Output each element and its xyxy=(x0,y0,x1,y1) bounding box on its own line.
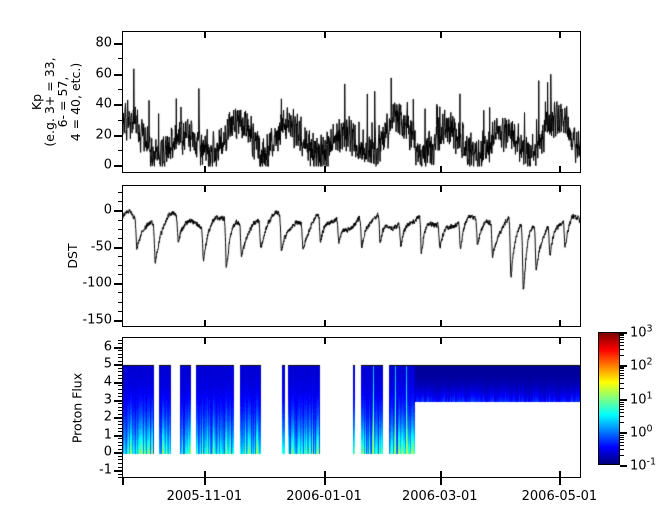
axis-tick xyxy=(440,185,442,192)
colorbar-tick-label: 101 xyxy=(630,390,653,407)
axis-tick xyxy=(620,337,624,338)
axis-tick xyxy=(620,465,627,467)
axis-tick xyxy=(324,337,326,344)
colorbar-tick-label: 100 xyxy=(630,423,653,440)
axis-tick xyxy=(324,471,326,478)
axis-tick xyxy=(118,445,122,446)
axis-tick xyxy=(118,274,122,275)
axis-tick xyxy=(204,166,206,173)
axis-tick xyxy=(620,404,624,405)
y-tick-label: -50 xyxy=(91,239,112,254)
axis-tick xyxy=(620,409,624,410)
axis-tick xyxy=(118,343,122,344)
colorbar-tick-label: 103 xyxy=(630,323,653,340)
axis-tick xyxy=(118,431,122,432)
axis-tick xyxy=(118,410,122,411)
proton-flux-axis-label: Proton Flux xyxy=(41,307,111,508)
axis-tick xyxy=(118,375,122,376)
axis-tick xyxy=(440,31,442,38)
y-tick-label: 1 xyxy=(104,427,112,442)
axis-tick xyxy=(118,229,122,230)
y-tick-label: 40 xyxy=(95,97,112,112)
y-tick-label: 60 xyxy=(95,66,112,81)
axis-tick xyxy=(114,470,122,472)
axis-tick xyxy=(118,449,122,450)
axis-tick xyxy=(118,393,122,394)
axis-tick xyxy=(620,406,624,407)
axis-tick xyxy=(324,320,326,327)
axis-tick xyxy=(324,166,326,173)
axis-tick xyxy=(118,407,122,408)
axis-tick xyxy=(118,350,122,351)
axis-tick xyxy=(118,396,122,397)
axis-tick xyxy=(118,192,122,193)
axis-tick xyxy=(620,388,624,389)
axis-tick xyxy=(620,402,624,403)
axis-tick xyxy=(118,424,122,425)
axis-tick xyxy=(122,478,124,485)
y-tick-label: 0 xyxy=(104,445,112,460)
axis-tick xyxy=(620,375,624,376)
axis-tick xyxy=(118,378,122,379)
axis-tick xyxy=(440,166,442,173)
axis-tick xyxy=(204,478,206,485)
axis-tick xyxy=(114,135,122,137)
axis-tick xyxy=(118,371,122,372)
axis-tick xyxy=(620,445,624,446)
axis-tick xyxy=(118,150,122,151)
x-tick-label: 2005-11-01 xyxy=(167,489,243,504)
axis-tick xyxy=(620,416,624,417)
axis-tick xyxy=(114,74,122,76)
axis-tick xyxy=(118,311,122,312)
x-tick-label: 2006-01-01 xyxy=(286,489,362,504)
axis-tick xyxy=(620,455,624,456)
y-tick-label: -1 xyxy=(99,463,112,478)
axis-tick xyxy=(114,104,122,106)
axis-tick xyxy=(620,383,624,384)
axis-tick xyxy=(114,400,122,402)
y-tick-label: 0 xyxy=(104,203,112,218)
axis-tick xyxy=(118,302,122,303)
dst-plot-panel xyxy=(122,185,581,327)
axis-tick xyxy=(118,442,122,443)
axis-tick xyxy=(118,265,122,266)
axis-tick xyxy=(440,478,442,485)
axis-tick xyxy=(559,185,561,192)
axis-tick xyxy=(559,166,561,173)
axis-tick xyxy=(559,31,561,38)
axis-tick xyxy=(114,320,122,322)
axis-tick xyxy=(559,471,561,478)
axis-tick xyxy=(118,428,122,429)
axis-tick xyxy=(620,367,624,368)
axis-tick xyxy=(118,459,122,460)
axis-tick xyxy=(324,185,326,192)
axis-tick xyxy=(118,414,122,415)
axis-tick xyxy=(118,357,122,358)
kp-plot-panel xyxy=(122,31,581,173)
axis-tick xyxy=(118,463,122,464)
axis-tick xyxy=(204,320,206,327)
axis-tick xyxy=(620,412,624,413)
axis-tick xyxy=(620,435,624,436)
colorbar xyxy=(598,332,620,465)
y-tick-label: 3 xyxy=(104,392,112,407)
y-tick-label: 2 xyxy=(104,410,112,425)
x-tick-label: 2006-03-01 xyxy=(402,489,478,504)
axis-tick xyxy=(440,471,442,478)
y-tick-label: 5 xyxy=(104,357,112,372)
axis-tick xyxy=(559,337,561,344)
axis-tick xyxy=(114,452,122,454)
space-weather-figure: Kp(e.g. 3+ = 33,6- = 57,4 = 40, etc.) 02… xyxy=(0,0,665,523)
axis-tick xyxy=(118,368,122,369)
axis-tick xyxy=(620,339,624,340)
axis-tick xyxy=(620,334,624,335)
y-tick-label: 20 xyxy=(95,127,112,142)
axis-tick xyxy=(118,389,122,390)
axis-tick xyxy=(114,417,122,419)
y-tick-label: 4 xyxy=(104,374,112,389)
axis-tick xyxy=(620,342,624,343)
axis-tick xyxy=(118,474,122,475)
axis-tick xyxy=(620,370,624,371)
axis-tick xyxy=(620,449,624,450)
axis-tick xyxy=(114,165,122,167)
axis-tick xyxy=(559,478,561,485)
axis-tick xyxy=(620,399,627,401)
axis-tick xyxy=(204,31,206,38)
axis-tick xyxy=(620,345,624,346)
axis-tick xyxy=(118,456,122,457)
axis-tick xyxy=(118,256,122,257)
axis-tick xyxy=(620,365,627,367)
axis-tick xyxy=(118,201,122,202)
axis-tick xyxy=(118,120,122,121)
axis-tick xyxy=(114,347,122,349)
axis-tick xyxy=(620,432,627,434)
axis-tick xyxy=(324,31,326,38)
axis-tick xyxy=(114,247,122,249)
axis-tick xyxy=(114,435,122,437)
axis-tick xyxy=(620,378,624,379)
axis-tick xyxy=(559,320,561,327)
axis-tick xyxy=(620,355,624,356)
axis-tick xyxy=(118,89,122,90)
axis-tick xyxy=(440,320,442,327)
axis-tick xyxy=(118,238,122,239)
x-tick-label: 2006-05-01 xyxy=(522,489,598,504)
axis-tick xyxy=(620,439,624,440)
axis-tick xyxy=(440,337,442,344)
axis-tick xyxy=(118,58,122,59)
axis-tick xyxy=(620,349,624,350)
axis-tick xyxy=(118,340,122,341)
axis-tick xyxy=(118,385,122,386)
axis-tick xyxy=(118,354,122,355)
axis-tick xyxy=(204,471,206,478)
axis-tick xyxy=(620,422,624,423)
axis-tick xyxy=(620,373,624,374)
axis-tick xyxy=(118,220,122,221)
axis-tick xyxy=(118,361,122,362)
y-tick-label: 6 xyxy=(104,339,112,354)
axis-tick xyxy=(118,467,122,468)
axis-tick xyxy=(114,283,122,285)
axis-tick xyxy=(620,437,624,438)
axis-tick xyxy=(204,185,206,192)
proton-flux-plot-panel xyxy=(122,337,581,478)
y-tick-label: -100 xyxy=(82,276,112,291)
axis-tick xyxy=(118,421,122,422)
axis-tick xyxy=(324,478,326,485)
axis-tick xyxy=(118,403,122,404)
y-tick-label: 80 xyxy=(95,36,112,51)
axis-tick xyxy=(204,337,206,344)
axis-tick xyxy=(118,438,122,439)
axis-tick xyxy=(114,210,122,212)
axis-tick xyxy=(620,442,624,443)
axis-tick xyxy=(620,332,627,334)
axis-tick xyxy=(118,292,122,293)
axis-tick xyxy=(114,364,122,366)
axis-tick xyxy=(114,382,122,384)
colorbar-tick-label: 102 xyxy=(630,357,653,374)
axis-tick xyxy=(114,43,122,45)
colorbar-tick-label: 10-1 xyxy=(630,456,656,473)
